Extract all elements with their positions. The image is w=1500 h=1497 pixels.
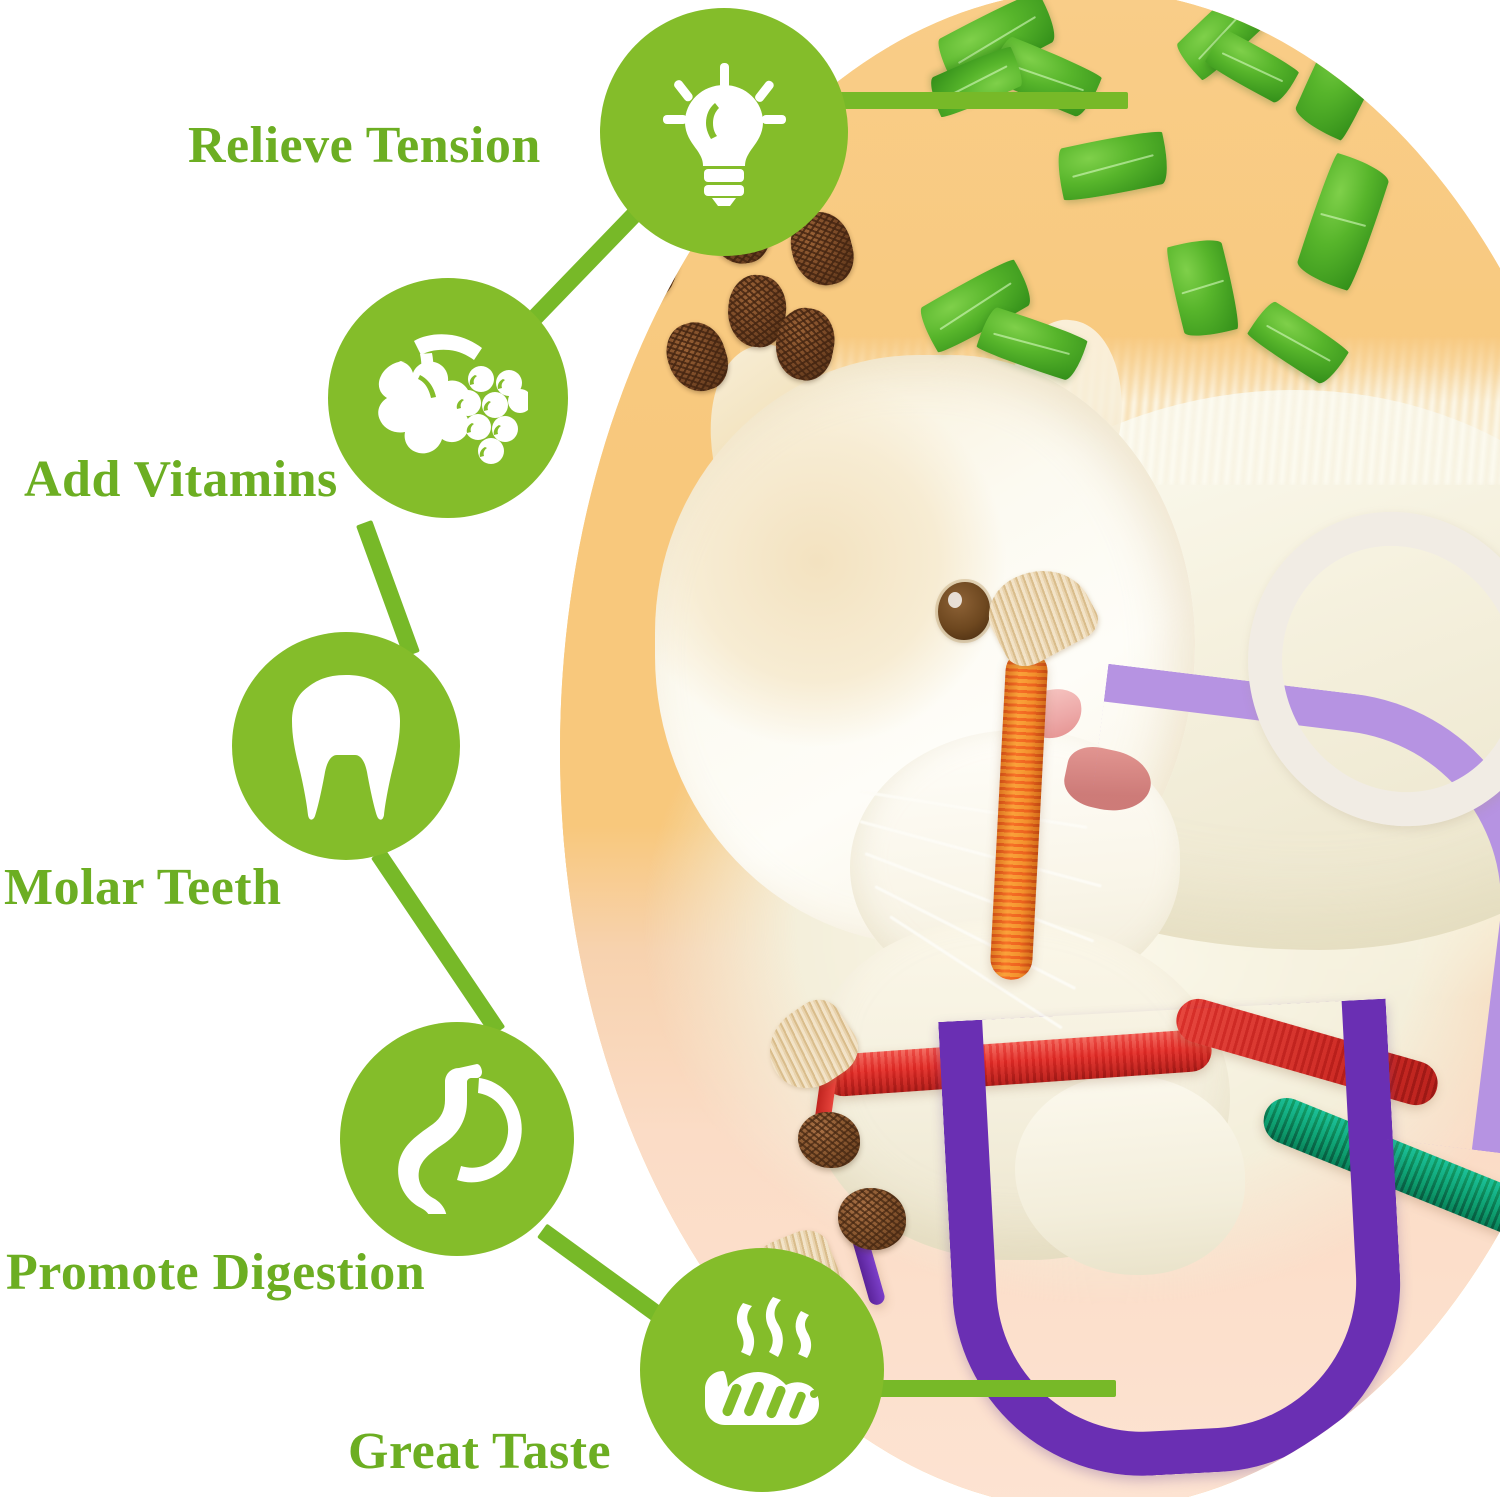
cat-eye: [938, 582, 990, 640]
grilled-food-icon: [687, 1295, 837, 1445]
connector-digestion-to-teeth: [371, 849, 505, 1037]
lightbulb-icon: [659, 57, 789, 207]
feature-bubble-molar-teeth[interactable]: [232, 632, 460, 860]
feature-label-promote-digestion: Promote Digestion: [6, 1243, 425, 1302]
feature-bubble-great-taste[interactable]: [640, 1248, 884, 1492]
silvervine-ball: [798, 1112, 860, 1168]
feature-label-molar-teeth: Molar Teeth: [4, 858, 282, 917]
infographic-canvas: Relieve Tension: [0, 0, 1500, 1497]
grapes-icon: [368, 323, 528, 473]
feature-label-add-vitamins: Add Vitamins: [24, 450, 338, 509]
feature-label-great-taste: Great Taste: [348, 1422, 611, 1481]
connector-bulb-to-photo: [838, 92, 1128, 109]
feature-bubble-relieve-tension[interactable]: [600, 8, 848, 256]
stomach-icon: [387, 1064, 527, 1214]
feature-label-relieve-tension: Relieve Tension: [188, 116, 541, 175]
feature-bubble-add-vitamins[interactable]: [328, 278, 568, 518]
feature-bubble-promote-digestion[interactable]: [340, 1022, 574, 1256]
connector-taste-to-photo: [866, 1380, 1116, 1397]
tooth-icon: [286, 671, 406, 821]
